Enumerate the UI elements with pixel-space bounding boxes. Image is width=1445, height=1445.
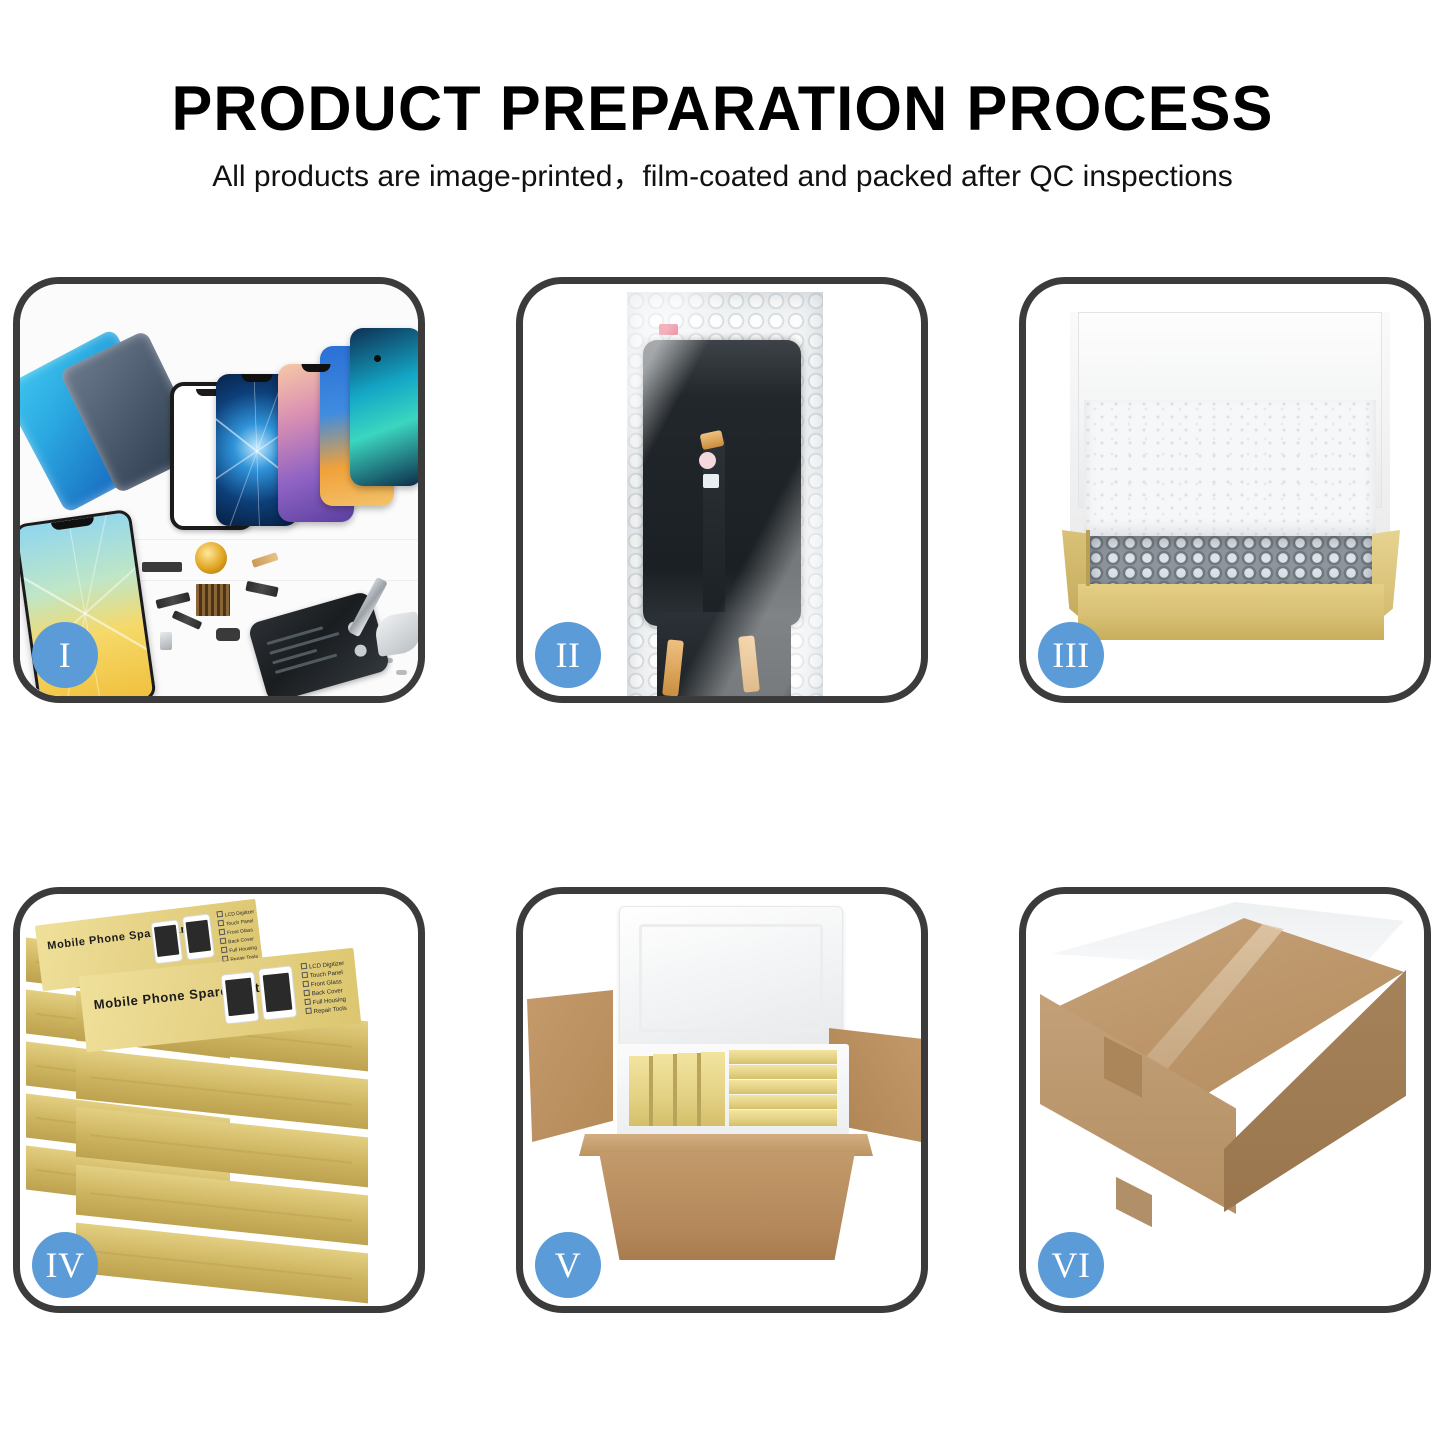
retail-box-phone-img-back [151,920,182,963]
retail-box-checklist-front: LCD Digitizer Touch Panel Front Glass Ba… [301,959,350,1017]
step-badge: III [1038,622,1104,688]
process-step-6[interactable]: VI [1019,887,1431,1313]
foam-sheet-icon [1084,400,1376,536]
retail-box-checklist-back: LCD Digitizer Touch Panel Front Glass Ba… [216,907,260,965]
retail-box-phone-img2-back [183,914,214,959]
step-badge: I [32,622,98,688]
camera-lens-icon [195,542,227,574]
step-badge: IV [32,1232,98,1298]
screw-b-icon [396,670,407,675]
retail-box-stack-front [76,1006,368,1306]
bubble-wrap-icon [627,292,823,696]
foam-cooler-lid-icon [619,906,843,1052]
carton-tape-tab-lower-icon [1116,1177,1152,1227]
carton-front-icon [599,1152,855,1260]
retail-box-phone-img-front [221,972,258,1023]
process-step-5[interactable]: V [516,887,928,1313]
camera-hole-icon [699,452,716,469]
retail-box-phone-img2-front [259,966,296,1019]
process-step-2[interactable]: II [516,277,928,703]
page-subtitle: All products are image-printed，film-coat… [0,158,1445,196]
speaker-mesh-icon [142,562,182,572]
box-tray-front-icon [1078,584,1384,640]
process-step-4[interactable]: Mobile Phone Spare Parts LCD Digitizer T… [13,887,425,1313]
gold-boxes-in-cooler [629,1050,837,1126]
ic-chip-icon [196,584,230,616]
qc-label-icon [659,324,678,335]
phone-screen-teal-icon [350,328,418,486]
header: PRODUCT PREPARATION PROCESS All products… [0,0,1445,240]
process-step-1[interactable]: I [13,277,425,703]
bubble-padding-icon [1088,536,1374,590]
page-title: PRODUCT PREPARATION PROCESS [22,74,1424,144]
carton-left-flap-icon [527,990,613,1142]
step-badge: V [535,1232,601,1298]
process-step-3[interactable]: III [1019,277,1431,703]
sim-tray-icon [160,632,172,650]
charging-port-icon [216,628,240,641]
process-grid: I II [13,277,1432,1313]
driver-ic-icon [703,474,719,488]
step-badge: VI [1038,1232,1104,1298]
box-tray-inner-edge-icon [1086,530,1090,586]
step-badge: II [535,622,601,688]
